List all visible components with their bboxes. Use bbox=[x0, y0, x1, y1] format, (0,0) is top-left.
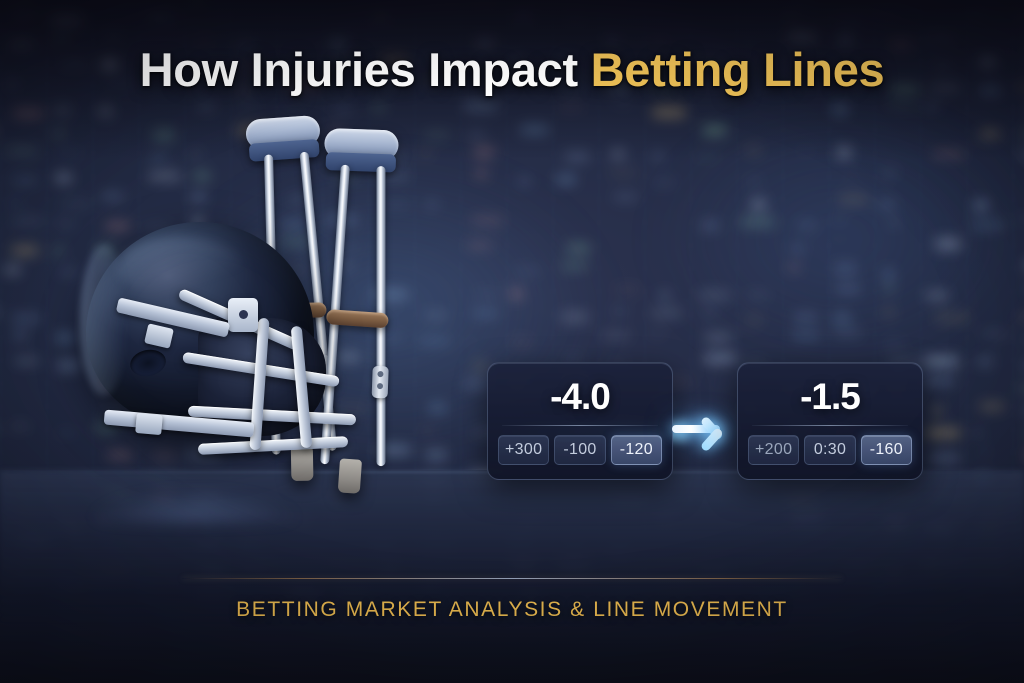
card-divider bbox=[502, 425, 658, 426]
odds-value-after: -1.5 bbox=[738, 376, 922, 418]
right-arrow-icon bbox=[672, 414, 738, 444]
football-helmet bbox=[78, 214, 378, 484]
card-divider bbox=[752, 425, 908, 426]
page-title: How Injuries Impact Betting Lines bbox=[0, 42, 1024, 97]
infographic-canvas: How Injuries Impact Betting Lines bbox=[0, 0, 1024, 683]
odds-value-before: -4.0 bbox=[488, 376, 672, 418]
crutch-pad-base bbox=[326, 152, 397, 172]
helmet-edge-highlight bbox=[80, 244, 128, 396]
odds-card-after[interactable]: -1.5 +2000:30-160 bbox=[737, 362, 923, 480]
odds-chip[interactable]: +300 bbox=[498, 435, 549, 465]
title-primary: How Injuries Impact bbox=[140, 43, 591, 96]
footer-divider bbox=[182, 578, 842, 579]
footer-caption: BETTING MARKET ANALYSIS & LINE MOVEMENT bbox=[0, 598, 1024, 622]
facemask-mount-clip bbox=[228, 298, 258, 332]
helmet-floor-reflection bbox=[94, 454, 344, 521]
odds-chip[interactable]: 0:30 bbox=[804, 435, 855, 465]
odds-card-before[interactable]: -4.0 +300-100-120 bbox=[487, 362, 673, 480]
helmet-chin-buckle bbox=[135, 413, 163, 435]
title-accent: Betting Lines bbox=[591, 43, 885, 96]
odds-chip[interactable]: -160 bbox=[861, 435, 912, 465]
odds-chip-row-before: +300-100-120 bbox=[498, 435, 662, 465]
odds-chip[interactable]: +200 bbox=[748, 435, 799, 465]
odds-chip[interactable]: -120 bbox=[611, 435, 662, 465]
facemask-bar bbox=[198, 436, 348, 455]
odds-chip[interactable]: -100 bbox=[554, 435, 605, 465]
odds-chip-row-after: +2000:30-160 bbox=[748, 435, 912, 465]
